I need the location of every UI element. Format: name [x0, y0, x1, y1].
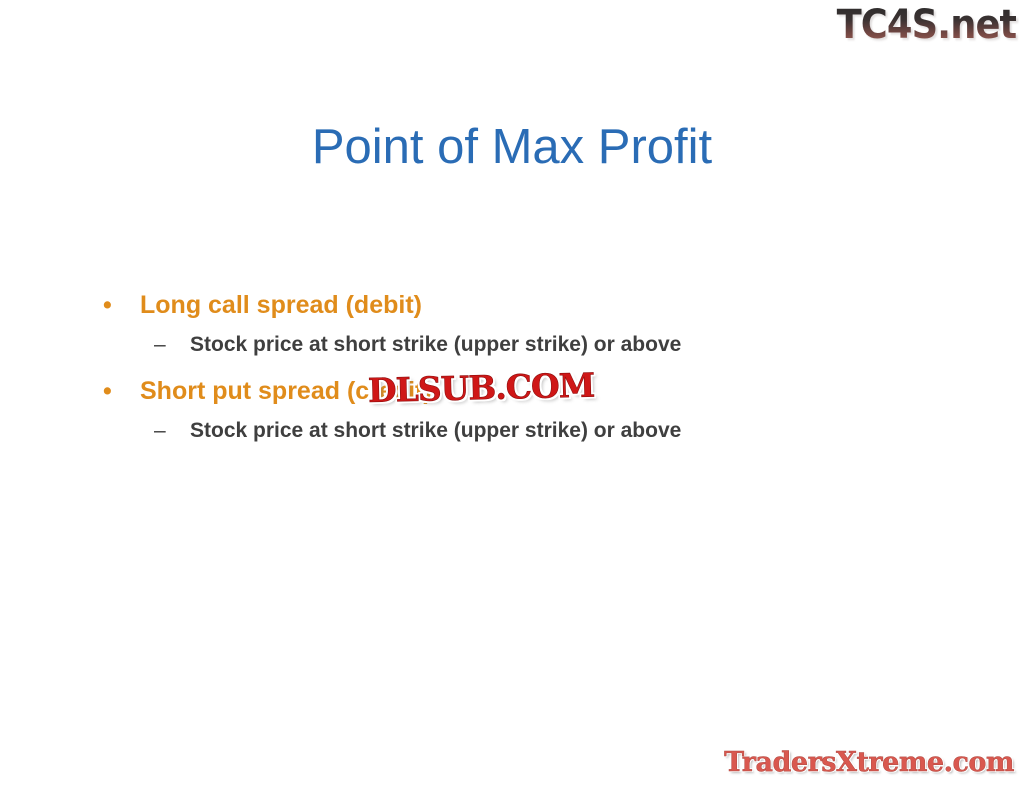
bullet-text: Stock price at short strike (upper strik… [190, 333, 681, 356]
dash-marker-icon: – [154, 328, 166, 362]
bullet-text: Long call spread (debit) [140, 291, 422, 319]
presentation-slide: TC4S.net TC4S.net Point of Max Profit • … [0, 0, 1024, 791]
bullet-item-level2: – Stock price at short strike (upper str… [98, 414, 958, 448]
bullet-marker-icon: • [103, 286, 112, 324]
slide-title: Point of Max Profit [0, 118, 1024, 176]
bullet-item-level1: • Long call spread (debit) [98, 286, 958, 324]
dlsub-watermark: DLSUB.COM [368, 366, 595, 410]
bullet-item-level2: – Stock price at short strike (upper str… [98, 328, 958, 362]
tc4s-net-logo: TC4S.net [836, 2, 1016, 48]
bullet-marker-icon: • [103, 372, 112, 410]
bullet-text: Stock price at short strike (upper strik… [190, 419, 681, 442]
tradersxtreme-watermark: TradersXtreme.com [724, 747, 1014, 779]
dash-marker-icon: – [154, 414, 166, 448]
